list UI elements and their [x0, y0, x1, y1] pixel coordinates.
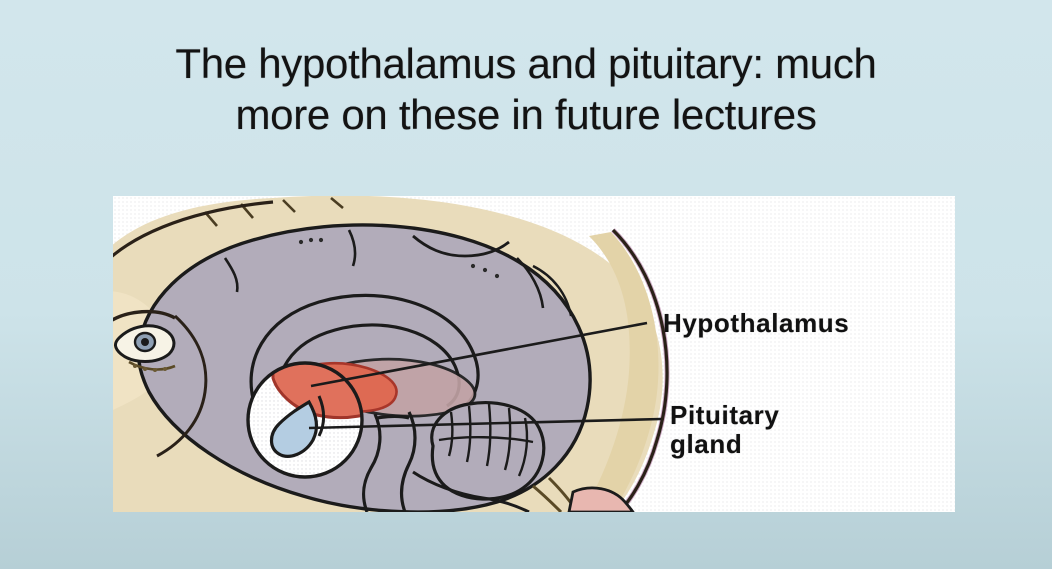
- slide-canvas: The hypothalamus and pituitary: much mor…: [0, 0, 1052, 569]
- label-pituitary-gland: Pituitary gland: [670, 401, 779, 459]
- brain-diagram-illustration: [113, 196, 955, 512]
- page-title: The hypothalamus and pituitary: much mor…: [0, 38, 1052, 140]
- title-line-1: The hypothalamus and pituitary: much: [0, 38, 1052, 89]
- anatomy-figure-panel: Hypothalamus Pituitary gland: [113, 196, 955, 512]
- title-line-2: more on these in future lectures: [0, 89, 1052, 140]
- label-hypothalamus: Hypothalamus: [663, 309, 849, 338]
- cerebellum-shape: [432, 403, 544, 499]
